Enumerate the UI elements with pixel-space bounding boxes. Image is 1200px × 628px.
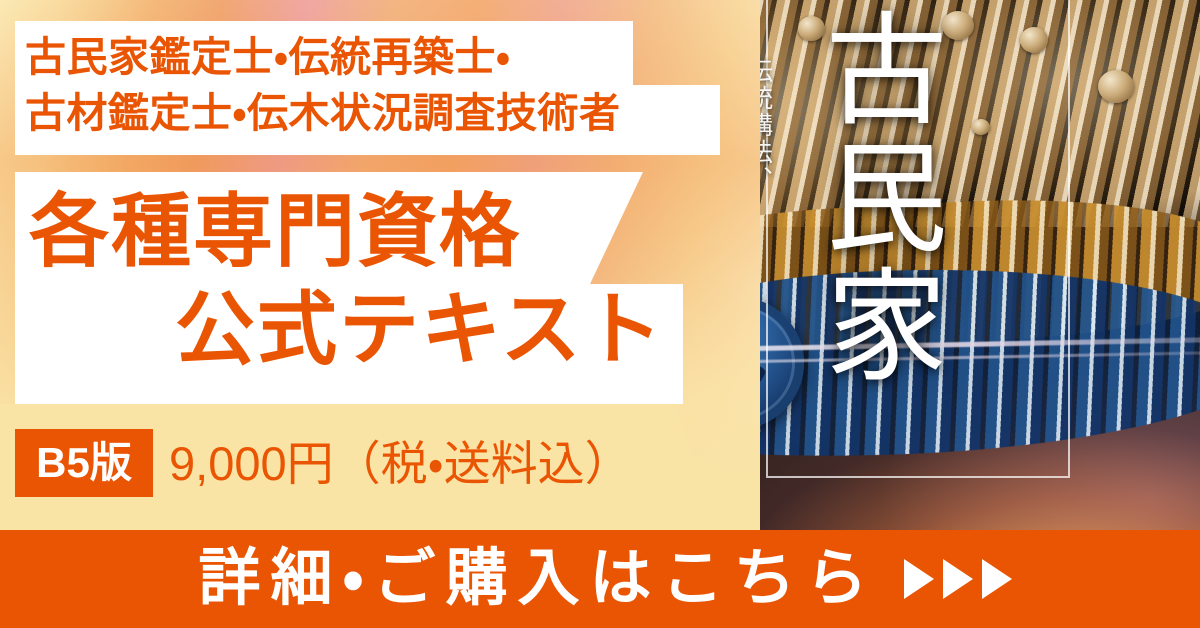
price-amount: 9,000円（税・送料込） [169,440,632,487]
qualifications-panel: 古民家鑑定士・伝統再築士・ 古材鑑定士・伝木状況調査技術者 [15,21,735,155]
format-badge: B5版 [15,429,153,497]
price-row: B5版 9,000円（税・送料込） [15,429,632,497]
qualifications-line-2: 古材鑑定士・伝木状況調査技術者 [25,93,620,134]
cta-arrows [904,559,1012,599]
chevron-right-icon [943,559,973,599]
chevron-right-icon [904,559,934,599]
carving-bulb-icon [1020,27,1048,53]
cta-label: 詳細・ご購入はこちら [188,548,877,610]
promo-banner: 古民家 伝統構法、 古民家活用のための調査と再生の 古民家鑑定士・伝統再築士・ … [0,0,1200,628]
cover-title: 古民家 [796,6,946,390]
cta-bar[interactable]: 詳細・ご購入はこちら [0,530,1200,628]
headline-line-1: 各種専門資格 [29,192,521,272]
qualifications-line-1: 古民家鑑定士・伝統再築士・ [25,37,510,78]
carving-bulb-icon [972,119,990,135]
headline-panel: 各種専門資格 公式テキスト [15,172,695,404]
carving-bulb-icon [1098,70,1134,103]
chevron-right-icon [982,559,1012,599]
headline-line-2: 公式テキスト [175,290,665,370]
